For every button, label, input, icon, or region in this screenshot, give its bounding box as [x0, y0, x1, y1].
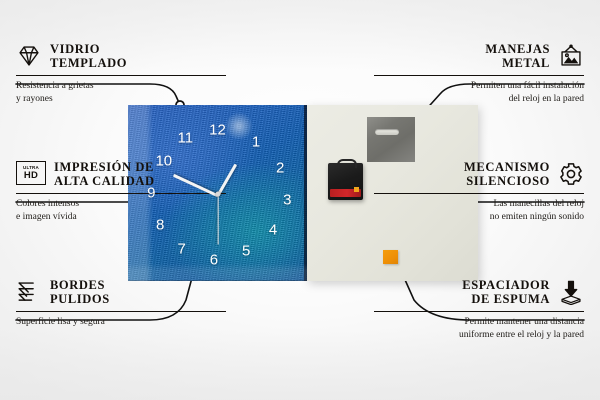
- foam-spacer-arrow-icon: [558, 279, 584, 305]
- clock-numeral-9: 9: [147, 186, 155, 201]
- hanger-slot: [375, 129, 399, 135]
- callout-title: IMPRESIÓN DE ALTA CALIDAD: [54, 160, 155, 189]
- clock-numeral-3: 3: [283, 193, 291, 208]
- polished-edges-icon: [16, 279, 42, 305]
- callout-subtitle: Permite mantener una distancia uniforme …: [374, 316, 584, 342]
- callout-divider: [16, 311, 226, 313]
- callout-divider: [16, 193, 226, 195]
- clock-numeral-5: 5: [242, 244, 250, 259]
- callout-subtitle: Resistencia a grietas y rayones: [16, 80, 226, 106]
- callout-subtitle: Superficie lisa y segura: [16, 316, 226, 329]
- mechanism-hook: [337, 159, 357, 168]
- callout-heading: BORDES PULIDOS: [16, 278, 226, 307]
- callout-divider: [16, 75, 226, 77]
- callout-impresion-alta-calidad[interactable]: ultra HD IMPRESIÓN DE ALTA CALIDAD Color…: [16, 160, 226, 224]
- picture-frame-hanger-icon: [558, 43, 584, 69]
- gear-icon: [558, 161, 584, 187]
- callout-heading: MECANISMO SILENCIOSO: [374, 160, 584, 189]
- clock-numeral-6: 6: [210, 252, 218, 267]
- callout-mecanismo-silencioso[interactable]: MECANISMO SILENCIOSO Las manecillas del …: [374, 160, 584, 224]
- callout-subtitle: Permiten una fácil instalación del reloj…: [374, 80, 584, 106]
- infographic-canvas: 12 1 2 3 4 5 6 7 8 9 10 11: [0, 0, 600, 400]
- callout-heading: ESPACIADOR DE ESPUMA: [374, 278, 584, 307]
- clock-numeral-7: 7: [178, 242, 186, 257]
- callout-divider: [374, 75, 584, 77]
- clock-numeral-8: 8: [156, 217, 164, 232]
- metal-hanger-plate: [367, 117, 415, 162]
- clock-center-pin: [215, 191, 220, 196]
- clock-second-hand: [217, 195, 218, 245]
- callout-subtitle: Las manecillas del reloj no emiten ningú…: [374, 198, 584, 224]
- callout-divider: [374, 311, 584, 313]
- clock-numeral-4: 4: [269, 222, 277, 237]
- battery: [330, 189, 361, 197]
- callout-manejas-metal[interactable]: MANEJAS METAL Permiten una fácil instala…: [374, 42, 584, 106]
- callout-heading: VIDRIO TEMPLADO: [16, 42, 226, 71]
- clock-numeral-11: 11: [177, 131, 193, 146]
- callout-title: MANEJAS METAL: [485, 42, 550, 71]
- callout-title: ESPACIADOR DE ESPUMA: [462, 278, 550, 307]
- callout-heading: MANEJAS METAL: [374, 42, 584, 71]
- clock-numeral-1: 1: [252, 134, 260, 149]
- callout-title: VIDRIO TEMPLADO: [50, 42, 127, 71]
- ultra-hd-icon: ultra HD: [16, 161, 46, 187]
- diamond-icon: [16, 43, 42, 69]
- callout-bordes-pulidos[interactable]: BORDES PULIDOS Superficie lisa y segura: [16, 278, 226, 329]
- callout-title: BORDES PULIDOS: [50, 278, 110, 307]
- clock-numeral-10: 10: [155, 154, 172, 169]
- callout-subtitle: Colores intensos e imagen vívida: [16, 198, 226, 224]
- callout-divider: [374, 193, 584, 195]
- callout-title: MECANISMO SILENCIOSO: [464, 160, 550, 189]
- silent-clock-mechanism: [328, 163, 363, 200]
- foam-spacer: [383, 250, 398, 264]
- callout-espaciador-espuma[interactable]: ESPACIADOR DE ESPUMA Permite mantener un…: [374, 278, 584, 342]
- clock-numeral-2: 2: [276, 161, 284, 176]
- clock-face: 12 1 2 3 4 5 6 7 8 9 10 11: [128, 105, 307, 281]
- ultra-hd-big-text: HD: [24, 171, 38, 181]
- callout-vidrio-templado[interactable]: VIDRIO TEMPLADO Resistencia a grietas y …: [16, 42, 226, 106]
- clock-numeral-12: 12: [209, 122, 226, 137]
